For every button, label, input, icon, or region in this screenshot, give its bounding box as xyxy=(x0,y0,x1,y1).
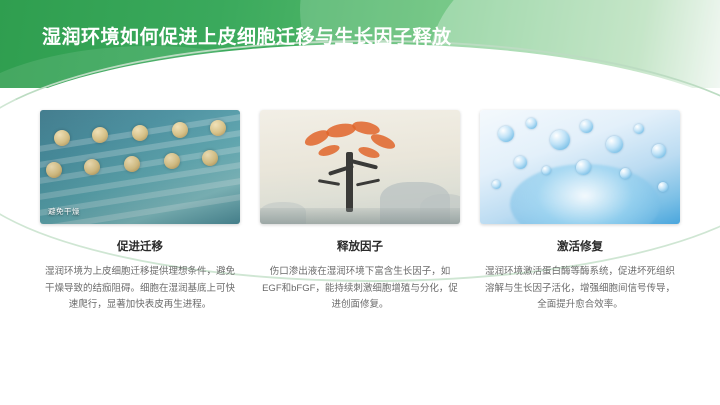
card-title: 激活修复 xyxy=(480,238,680,254)
card-title: 促进迁移 xyxy=(40,238,240,254)
epithelial-cell-migration-image: 避免干燥 xyxy=(40,110,240,224)
card-item: 避免干燥 促进迁移 湿润环境为上皮细胞迁移提供理想条件，避免干燥导致的结痂阻碍。… xyxy=(40,110,240,314)
card-item: 释放因子 伤口渗出液在湿润环境下富含生长因子，如EGF和bFGF，能持续刺激细胞… xyxy=(260,110,460,314)
page-title: 湿润环境如何促进上皮细胞迁移与生长因子释放 xyxy=(42,22,452,49)
card-image xyxy=(480,110,680,224)
card-list: 避免干燥 促进迁移 湿润环境为上皮细胞迁移提供理想条件，避免干燥导致的结痂阻碍。… xyxy=(40,110,680,314)
card-item: 激活修复 湿润环境激活蛋白酶等酶系统，促进坏死组织溶解与生长因子活化，增强细胞间… xyxy=(480,110,680,314)
card-image: 避免干燥 xyxy=(40,110,240,224)
card-title: 释放因子 xyxy=(260,238,460,254)
card-image xyxy=(260,110,460,224)
ink-wash-tree-image xyxy=(260,110,460,224)
card-body: 伤口渗出液在湿润环境下富含生长因子，如EGF和bFGF，能持续刺激细胞增殖与分化… xyxy=(260,264,460,314)
card-body: 湿润环境为上皮细胞迁移提供理想条件，避免干燥导致的结痂阻碍。细胞在湿润基底上可快… xyxy=(40,264,240,314)
image-caption: 避免干燥 xyxy=(48,206,80,217)
blue-bubbles-splash-image xyxy=(480,110,680,224)
slide: 湿润环境如何促进上皮细胞迁移与生长因子释放 xyxy=(0,0,720,405)
card-body: 湿润环境激活蛋白酶等酶系统，促进坏死组织溶解与生长因子活化，增强细胞间信号传导，… xyxy=(480,264,680,314)
